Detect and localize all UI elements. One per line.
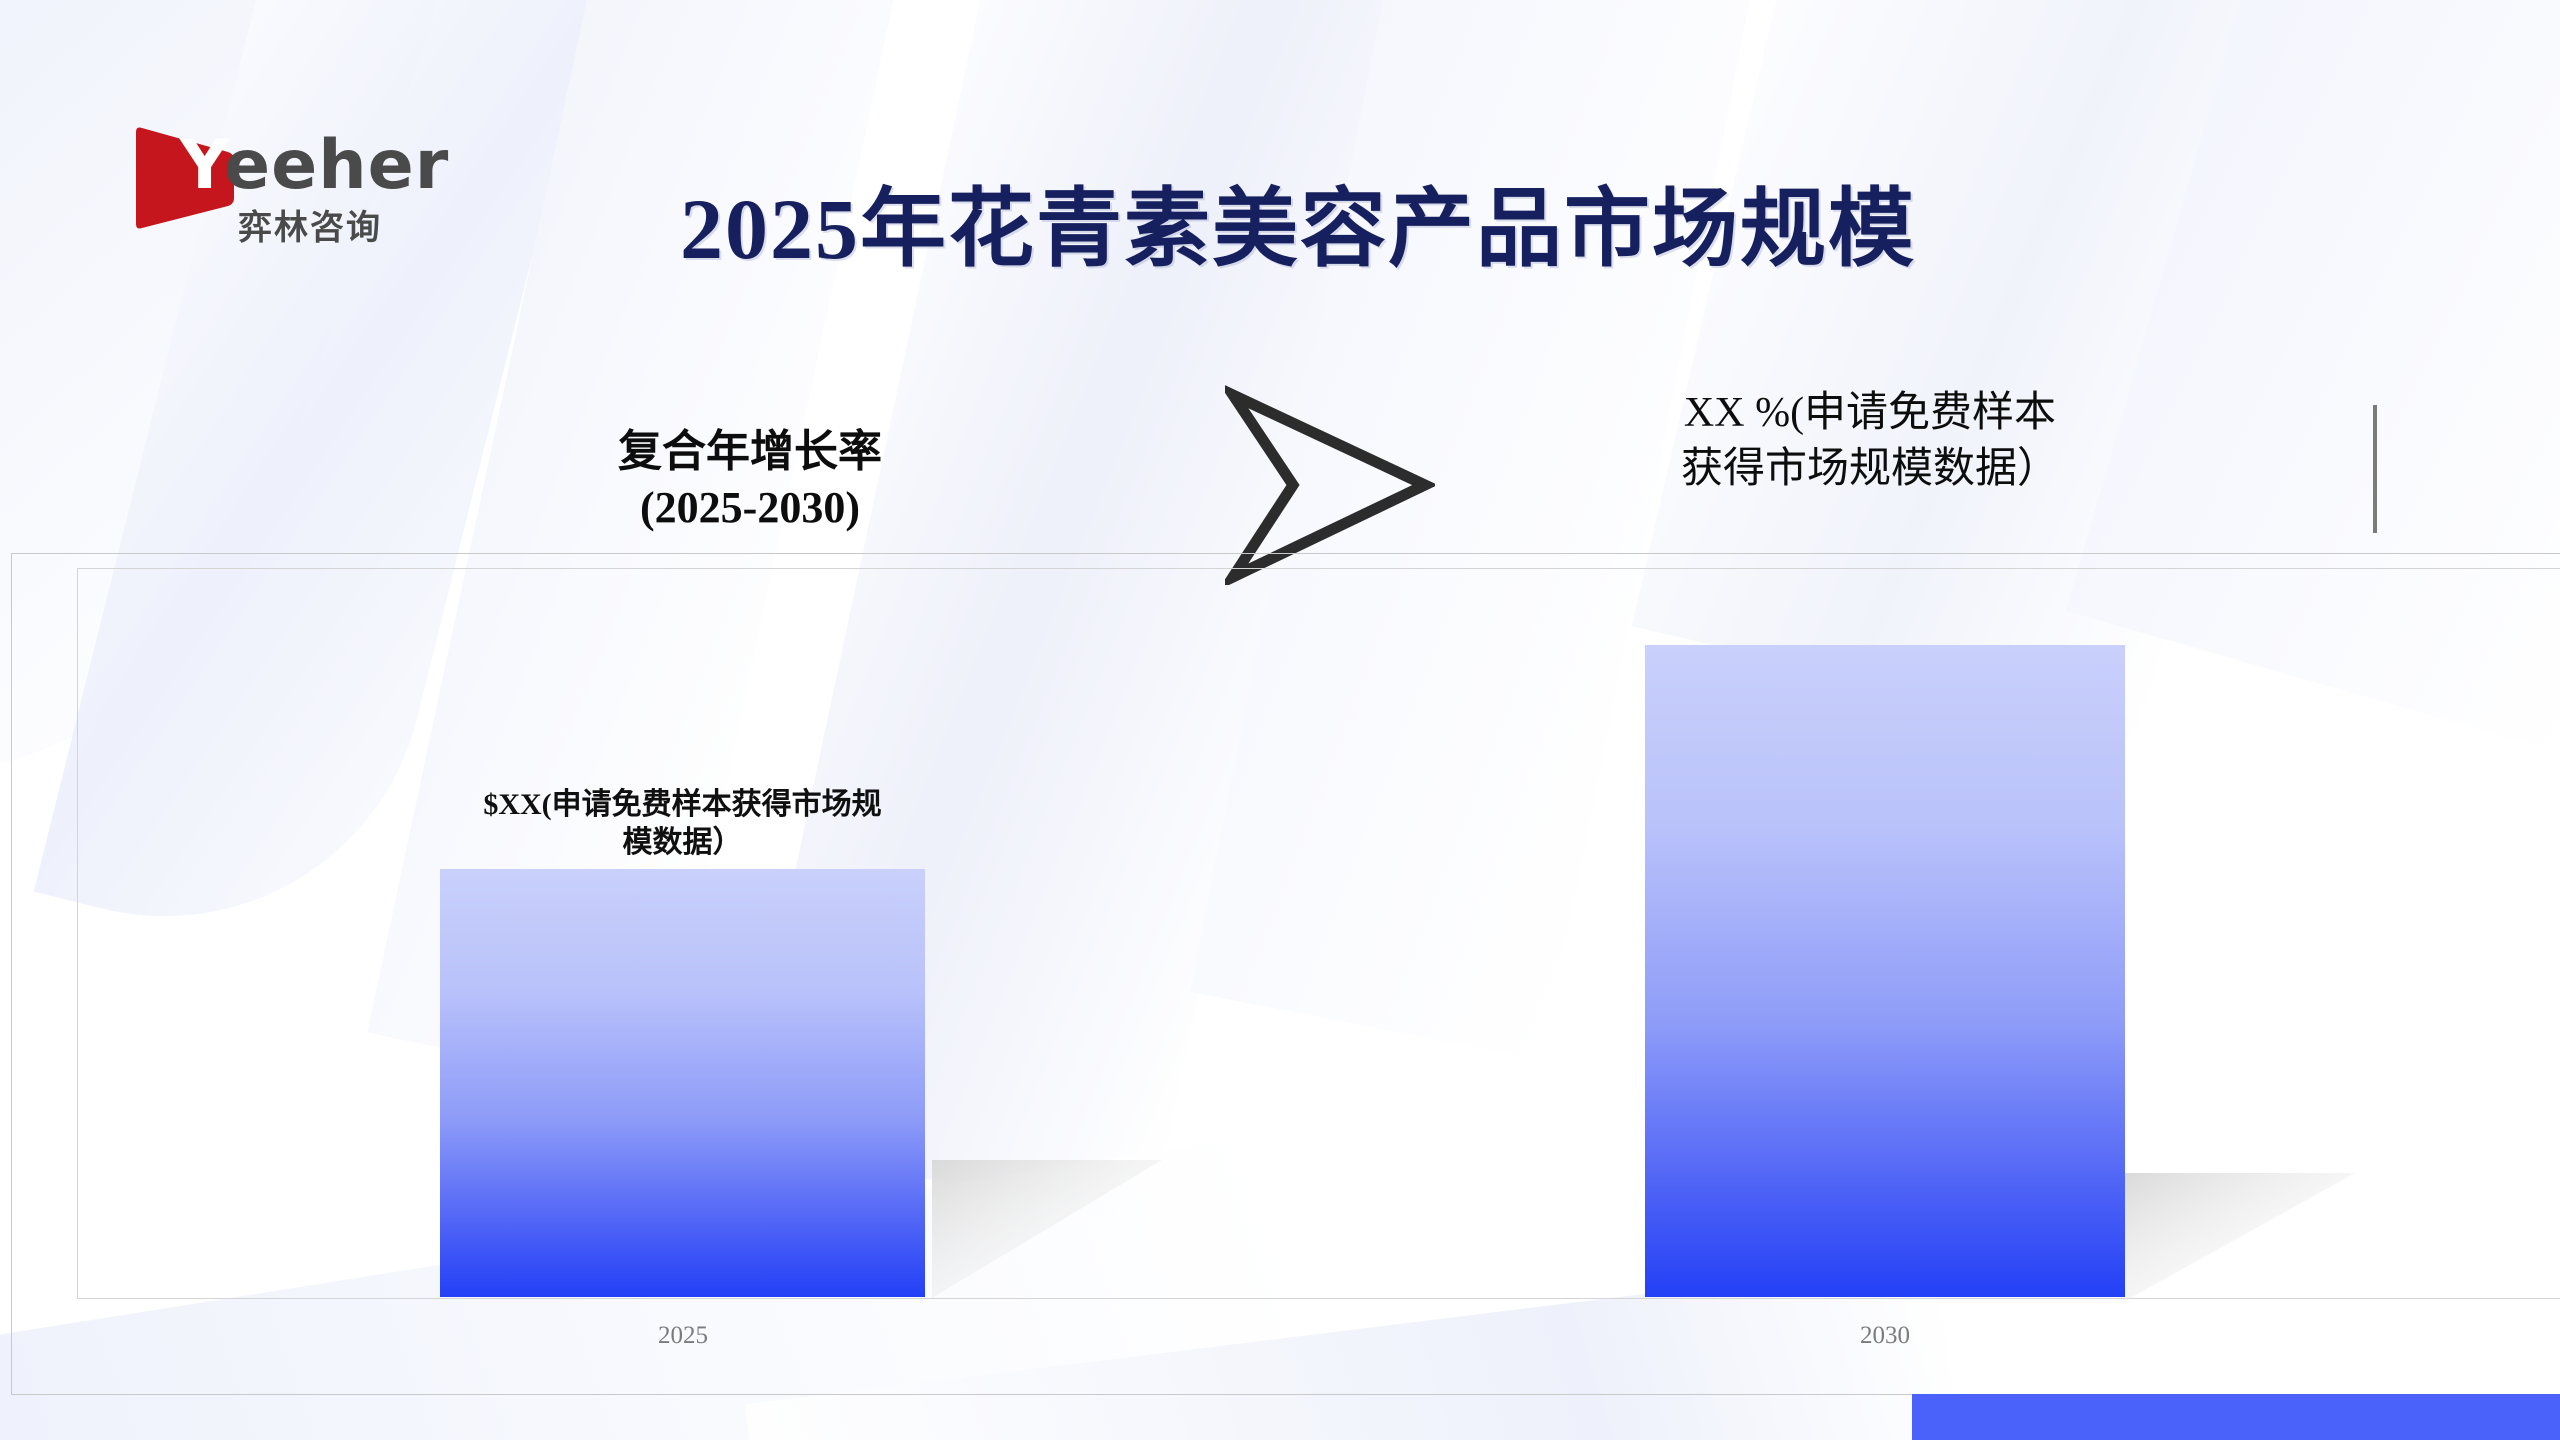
logo-wordmark: Yeeher: [180, 132, 449, 200]
cagr-callout: 复合年增长率 (2025-2030): [540, 424, 960, 537]
vertical-divider: [2373, 405, 2377, 533]
bottom-accent-bar: [1912, 1394, 2560, 1440]
chart-plot-area: [77, 568, 2560, 1299]
chart-panel: [11, 553, 2560, 1395]
page-title: 2025年花青素美容产品市场规模: [680, 158, 1916, 283]
market-size-value-callout: XX %(申请免费样本 获得市场规模数据）: [1630, 385, 2110, 498]
value-callout-line2: 获得市场规模数据）: [1630, 441, 2110, 497]
logo-wordmark-initial: Y: [180, 126, 224, 205]
brand-logo: Yeeher 弈林咨询: [128, 122, 448, 232]
cagr-period: (2025-2030): [540, 480, 960, 536]
logo-subtitle: 弈林咨询: [238, 200, 382, 249]
slide-root: Yeeher 弈林咨询 2025年花青素美容产品市场规模 复合年增长率 (202…: [0, 0, 2560, 1440]
cagr-label: 复合年增长率: [540, 424, 960, 480]
value-callout-line1: XX %(申请免费样本: [1630, 385, 2110, 441]
logo-wordmark-rest: eeher: [224, 126, 449, 205]
